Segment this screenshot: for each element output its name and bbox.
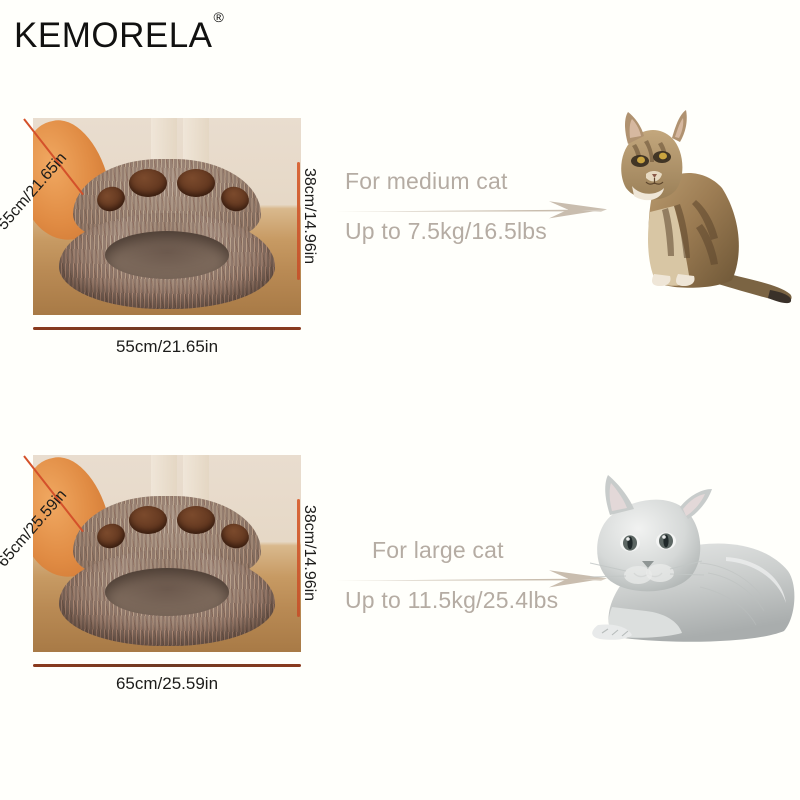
product-photo-large [33, 455, 301, 652]
paw-pad [177, 169, 215, 197]
room-scene [33, 118, 301, 315]
room-scene [33, 455, 301, 652]
paw-pad [129, 169, 167, 197]
plush-paw-bed [59, 159, 275, 309]
dimension-label-height: 38cm/14.96in [300, 168, 318, 264]
brand-name: KEMORELA [14, 16, 213, 55]
brand-logo: KEMORELA® [14, 16, 223, 56]
callout-subtitle: Up to 7.5kg/16.5lbs [345, 218, 547, 245]
product-photo-medium [33, 118, 301, 315]
registered-trademark-icon: ® [214, 9, 225, 25]
callout-subtitle: Up to 11.5kg/25.4lbs [345, 587, 558, 614]
brown-tabby-cat-image [610, 104, 795, 309]
bed-cushion-well [105, 231, 229, 279]
plush-paw-bed [59, 496, 275, 646]
callout-title: For medium cat [345, 168, 508, 195]
dimension-label-width: 65cm/25.59in [33, 674, 301, 694]
callout-title: For large cat [372, 537, 504, 564]
grey-shorthair-cat-image [550, 467, 800, 667]
dimension-label-width: 55cm/21.65in [33, 337, 301, 357]
dimension-label-height: 38cm/14.96in [300, 505, 318, 601]
bed-cushion-well [105, 568, 229, 616]
measure-line-width [33, 327, 301, 330]
paw-pad [177, 506, 215, 534]
measure-line-width [33, 664, 301, 667]
paw-pad [129, 506, 167, 534]
